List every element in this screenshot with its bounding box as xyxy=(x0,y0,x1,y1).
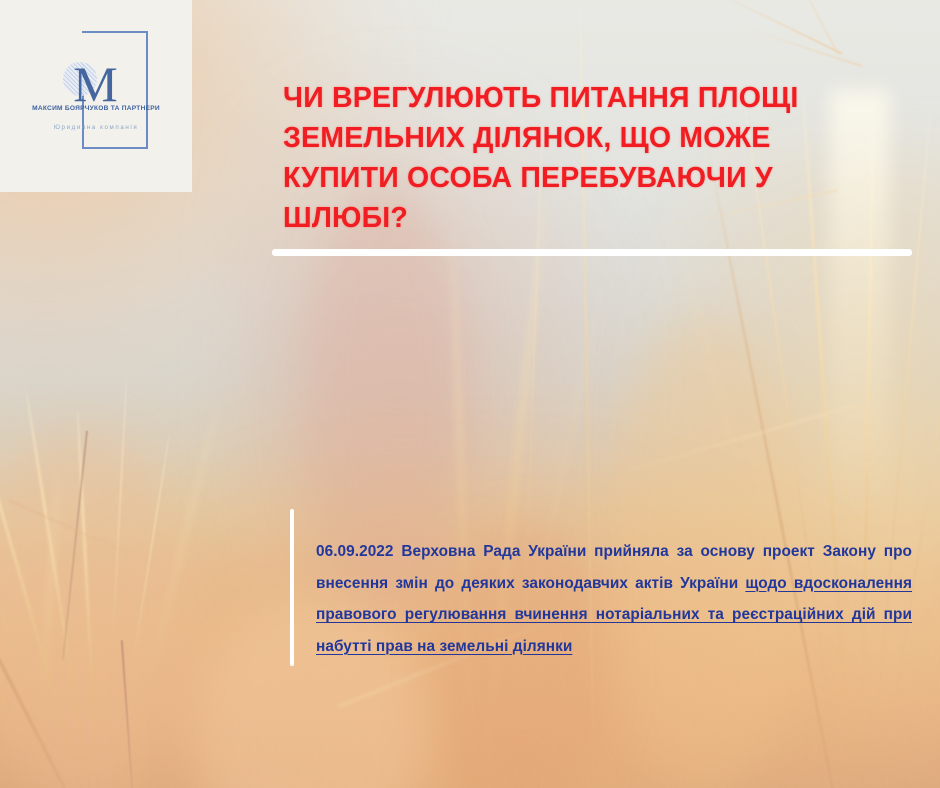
headline-divider xyxy=(272,249,912,256)
body-paragraph: 06.09.2022 Верховна Рада України прийнял… xyxy=(316,536,912,662)
logo-panel: M МАКСИМ БОЯРЧУКОВ ТА ПАРТНЕРИ Юридична … xyxy=(0,0,192,192)
logo-monogram: M xyxy=(0,58,192,110)
page-title: ЧИ ВРЕГУЛЮЮТЬ ПИТАННЯ ПЛОЩІ ЗЕМЕЛЬНИХ ДІ… xyxy=(283,78,873,238)
poster-canvas: M МАКСИМ БОЯРЧУКОВ ТА ПАРТНЕРИ Юридична … xyxy=(0,0,940,788)
logo-company-name: МАКСИМ БОЯРЧУКОВ ТА ПАРТНЕРИ xyxy=(0,104,192,114)
body-accent-bar xyxy=(290,509,294,666)
logo-tagline: Юридична компанія xyxy=(0,124,192,131)
wheat-cluster-center xyxy=(410,170,570,788)
